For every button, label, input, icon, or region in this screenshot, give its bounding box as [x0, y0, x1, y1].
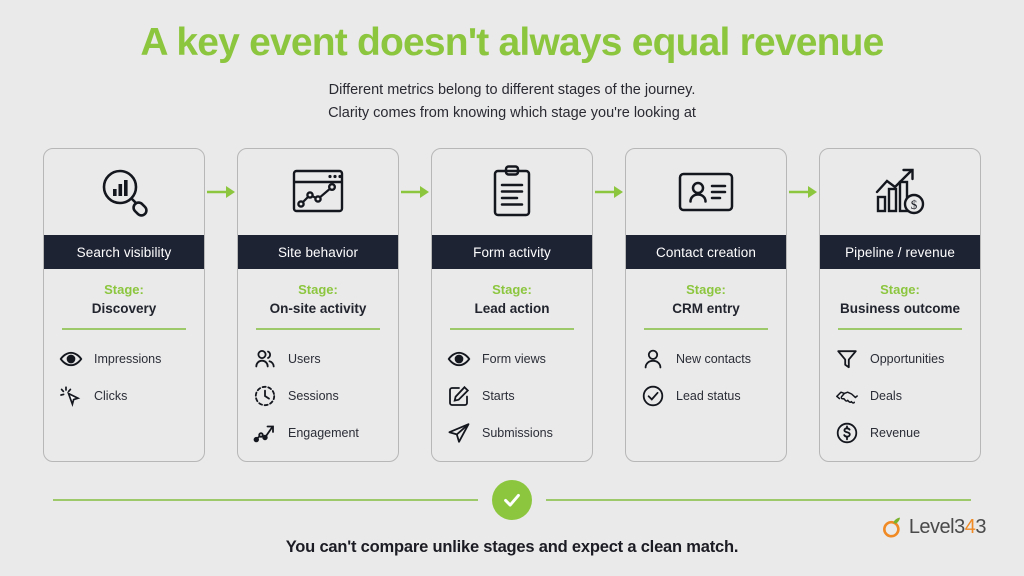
metric-item: Submissions: [446, 420, 592, 446]
edit-square-icon: [446, 383, 472, 409]
metric-label: Lead status: [676, 389, 741, 403]
card-title-band: Contact creation: [626, 235, 786, 269]
metrics-list: Impressions Clicks: [44, 330, 204, 409]
metric-item: Starts: [446, 383, 592, 409]
brand-logo[interactable]: Level343: [881, 515, 986, 539]
stage-value: Discovery: [44, 299, 204, 319]
flow-arrow-2: [399, 148, 431, 462]
metric-label: Submissions: [482, 426, 553, 440]
stage-card-form-activity[interactable]: Form activity Stage: Lead action Form vi…: [431, 148, 593, 462]
stage-card-site-behavior[interactable]: Site behavior Stage: On-site activity: [237, 148, 399, 462]
stage-value: Lead action: [432, 299, 592, 319]
metric-item: Deals: [834, 383, 980, 409]
metric-label: Clicks: [94, 389, 127, 403]
metric-label: Sessions: [288, 389, 339, 403]
person-icon: [640, 346, 666, 372]
flow-arrow-4: [787, 148, 819, 462]
metric-item: Revenue: [834, 420, 980, 446]
card-title-band: Pipeline / revenue: [820, 235, 980, 269]
stage-card-pipeline-revenue[interactable]: $ Pipeline / revenue Stage: Business out…: [819, 148, 981, 462]
logo-text-part2: 3: [975, 516, 986, 538]
card-title: Contact creation: [656, 245, 756, 260]
subtitle-line-1: Different metrics belong to different st…: [0, 79, 1024, 102]
clock-icon: [252, 383, 278, 409]
divider-right: [546, 499, 971, 501]
check-circle-icon: [640, 383, 666, 409]
metric-label: Form views: [482, 352, 546, 366]
card-title-band: Form activity: [432, 235, 592, 269]
metric-label: Opportunities: [870, 352, 944, 366]
metric-label: Impressions: [94, 352, 161, 366]
trend-arrow-icon: [252, 420, 278, 446]
svg-text:$: $: [911, 197, 918, 212]
metric-item: Clicks: [58, 383, 204, 409]
card-title: Pipeline / revenue: [845, 245, 955, 260]
metric-item: Lead status: [640, 383, 786, 409]
funnel-icon: [834, 346, 860, 372]
metrics-list: Users Sessions: [238, 330, 398, 446]
orange-leaf-icon: [881, 515, 905, 539]
handshake-icon: [834, 383, 860, 409]
check-circle-icon: [492, 480, 532, 520]
eye-icon: [58, 346, 84, 372]
dollar-circle-icon: [834, 420, 860, 446]
card-stage-block: Stage: Business outcome: [820, 269, 980, 330]
stage-card-search-visibility[interactable]: Search visibility Stage: Discovery Impre…: [43, 148, 205, 462]
metric-item: Sessions: [252, 383, 398, 409]
logo-text-accent: 4: [965, 516, 976, 538]
subtitle-line-2: Clarity comes from knowing which stage y…: [0, 102, 1024, 125]
stage-label: Stage:: [626, 281, 786, 299]
metric-item: Engagement: [252, 420, 398, 446]
card-stage-block: Stage: Discovery: [44, 269, 204, 330]
infographic-page: A key event doesn't always equal revenue…: [0, 0, 1024, 576]
growth-chart-dollar-icon: $: [820, 149, 980, 235]
stage-value: CRM entry: [626, 299, 786, 319]
card-title: Site behavior: [278, 245, 358, 260]
stage-value: On-site activity: [238, 299, 398, 319]
magnifier-barchart-icon: [44, 149, 204, 235]
metric-item: New contacts: [640, 346, 786, 372]
flow-arrow-3: [593, 148, 625, 462]
stage-cards-row: Search visibility Stage: Discovery Impre…: [0, 148, 1024, 464]
contact-card-icon: [626, 149, 786, 235]
metric-label: Revenue: [870, 426, 920, 440]
header: A key event doesn't always equal revenue…: [0, 0, 1024, 126]
footer: You can't compare unlike stages and expe…: [0, 480, 1024, 557]
stage-label: Stage:: [238, 281, 398, 299]
metrics-list: Opportunities Deals: [820, 330, 980, 446]
card-title: Search visibility: [77, 245, 172, 260]
footer-tagline: You can't compare unlike stages and expe…: [0, 538, 1024, 557]
browser-linechart-icon: [238, 149, 398, 235]
divider-left: [53, 499, 478, 501]
metric-item: Form views: [446, 346, 592, 372]
card-stage-block: Stage: On-site activity: [238, 269, 398, 330]
stage-card-contact-creation[interactable]: Contact creation Stage: CRM entry New co…: [625, 148, 787, 462]
eye-icon: [446, 346, 472, 372]
cursor-click-icon: [58, 383, 84, 409]
metric-label: Users: [288, 352, 321, 366]
paper-plane-icon: [446, 420, 472, 446]
stage-label: Stage:: [44, 281, 204, 299]
stage-value: Business outcome: [820, 299, 980, 319]
metric-item: Impressions: [58, 346, 204, 372]
card-title-band: Site behavior: [238, 235, 398, 269]
footer-divider-row: [0, 480, 1024, 520]
stage-label: Stage:: [820, 281, 980, 299]
metric-label: New contacts: [676, 352, 751, 366]
logo-text: Level343: [909, 516, 986, 539]
metric-item: Users: [252, 346, 398, 372]
page-subtitle: Different metrics belong to different st…: [0, 79, 1024, 126]
metric-label: Deals: [870, 389, 902, 403]
metric-label: Engagement: [288, 426, 359, 440]
stage-label: Stage:: [432, 281, 592, 299]
users-icon: [252, 346, 278, 372]
metric-label: Starts: [482, 389, 515, 403]
card-stage-block: Stage: Lead action: [432, 269, 592, 330]
card-stage-block: Stage: CRM entry: [626, 269, 786, 330]
metrics-list: New contacts Lead status: [626, 330, 786, 409]
flow-arrow-1: [205, 148, 237, 462]
metrics-list: Form views Starts: [432, 330, 592, 446]
logo-text-part1: Level3: [909, 516, 965, 538]
card-title-band: Search visibility: [44, 235, 204, 269]
metric-item: Opportunities: [834, 346, 980, 372]
clipboard-icon: [432, 149, 592, 235]
page-title: A key event doesn't always equal revenue: [0, 23, 1024, 62]
card-title: Form activity: [473, 245, 551, 260]
